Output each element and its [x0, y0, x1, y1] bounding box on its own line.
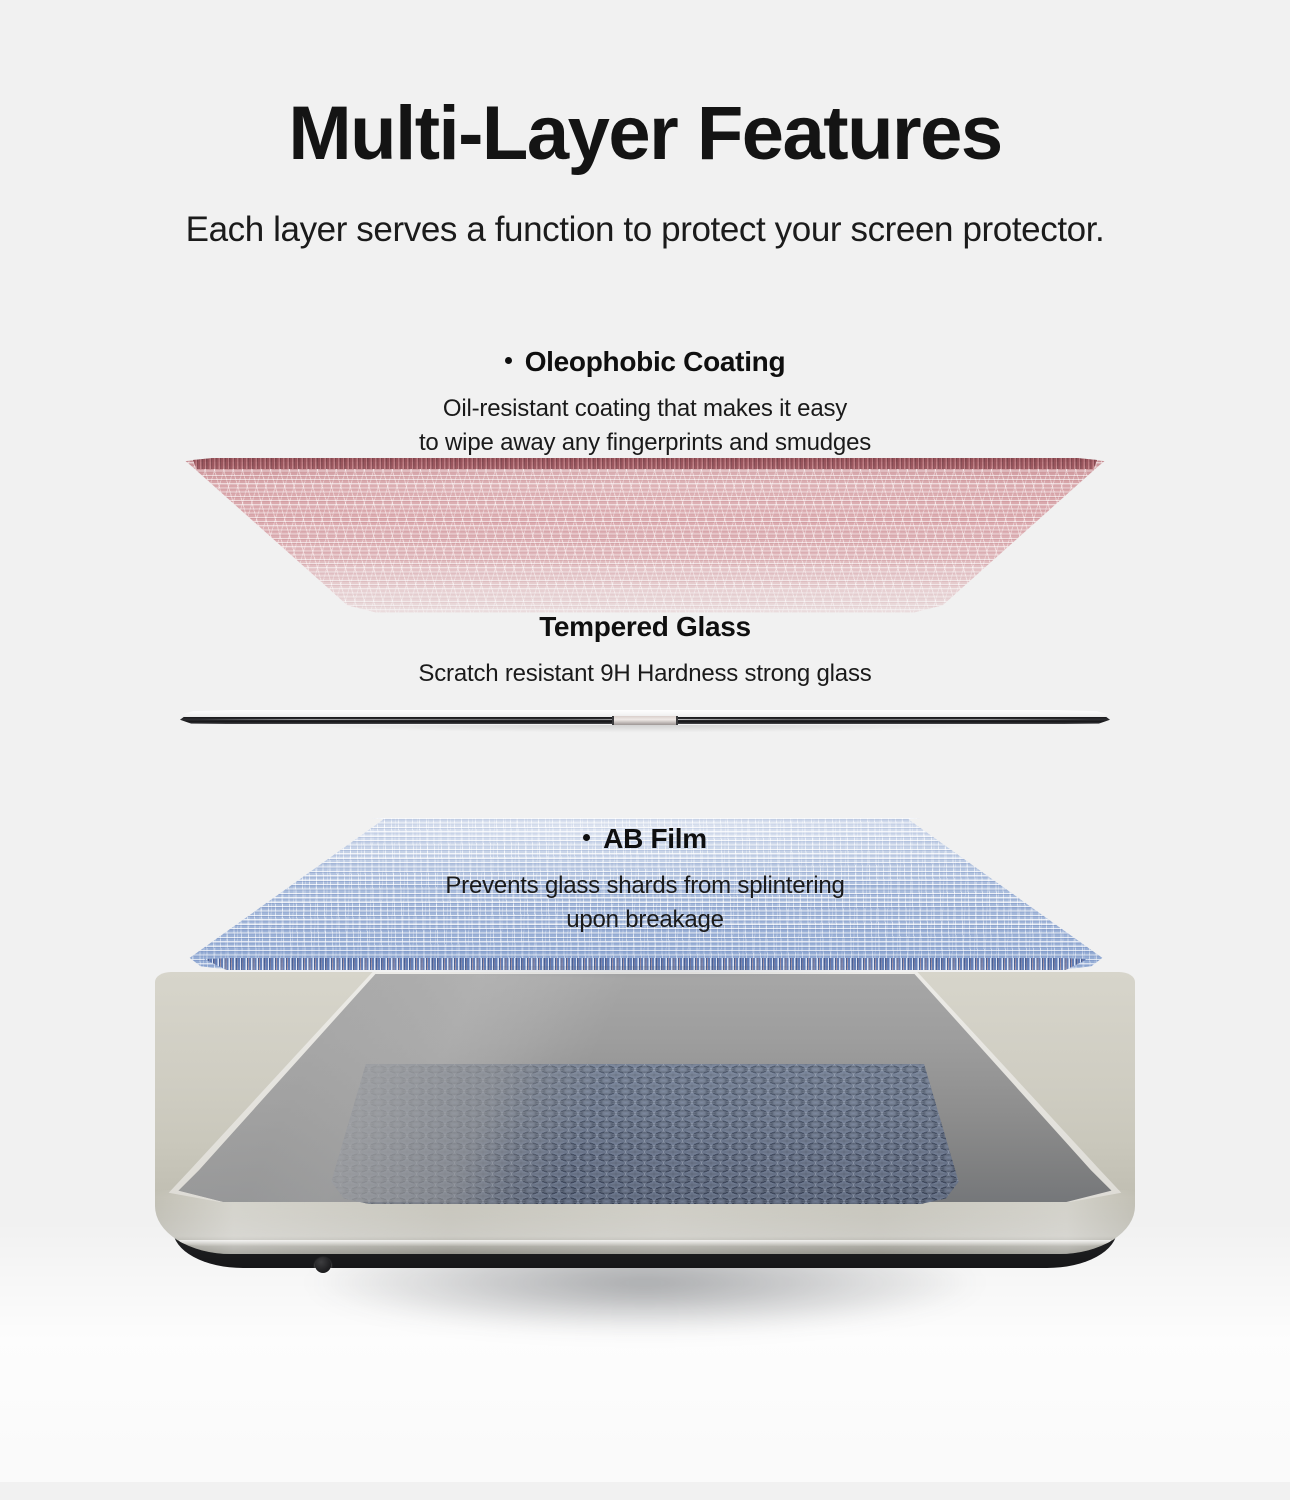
layer-caption-oleophobic-coating: Oleophobic Coating Oil-resistant coating… — [0, 345, 1290, 460]
oleophobic-sheet-edge — [189, 458, 1100, 469]
layer-description-line-1: Oil-resistant coating that makes it easy — [0, 392, 1290, 426]
layer-art-tempered-glass — [180, 705, 1110, 735]
product-illustration-scene: Multi-Layer Features Each layer serves a… — [0, 0, 1290, 1500]
layer-art-ab-film — [186, 818, 1106, 970]
ab-film-sheet — [186, 818, 1106, 970]
layer-description-line-2: to wipe away any fingerprints and smudge… — [0, 426, 1290, 460]
microphone-hole-icon — [315, 1257, 331, 1273]
page-title: Multi-Layer Features — [0, 96, 1290, 172]
page-subtitle: Each layer serves a function to protect … — [0, 210, 1290, 250]
smartphone-device — [155, 972, 1135, 1317]
layer-description-oleophobic-coating: Oil-resistant coating that makes it easy… — [0, 392, 1290, 460]
ab-film-shadow — [333, 966, 959, 982]
device-bottom-rim — [179, 1240, 1111, 1246]
layer-description-tempered-glass: Scratch resistant 9H Hardness strong gla… — [0, 657, 1290, 691]
header: Multi-Layer Features Each layer serves a… — [0, 0, 1290, 250]
layer-art-oleophobic-coating — [180, 458, 1110, 613]
tempered-glass-shadow — [254, 725, 1035, 735]
bullet-dot-icon — [505, 357, 512, 364]
layer-title-text: Oleophobic Coating — [525, 346, 786, 377]
layer-title-tempered-glass: Tempered Glass — [0, 610, 1290, 644]
layer-title-oleophobic-coating: Oleophobic Coating — [0, 345, 1290, 379]
oleophobic-sheet — [180, 458, 1110, 613]
layer-caption-tempered-glass: Tempered Glass Scratch resistant 9H Hard… — [0, 610, 1290, 691]
tempered-glass-notch-cutout — [612, 716, 678, 725]
layer-description-line-1: Scratch resistant 9H Hardness strong gla… — [0, 657, 1290, 691]
